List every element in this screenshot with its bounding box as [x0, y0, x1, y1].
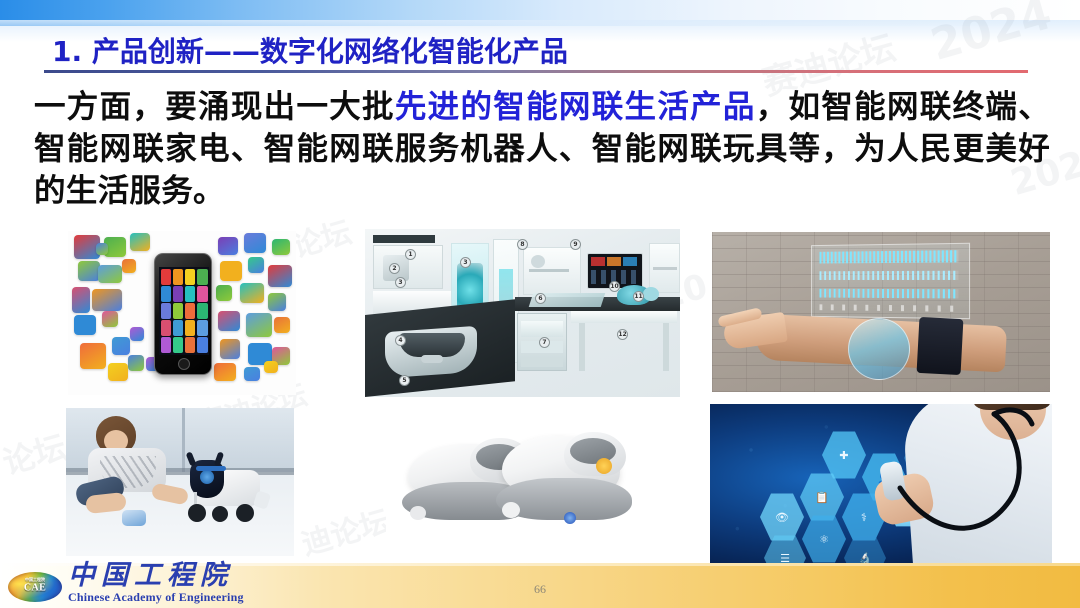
floating-app-icon — [244, 367, 260, 381]
smartphone-device — [154, 253, 212, 375]
floating-app-icon — [272, 239, 290, 255]
phone-app-icon — [173, 320, 184, 336]
floating-app-icon — [128, 355, 144, 371]
phone-app-icon — [173, 337, 184, 353]
phone-app-icon — [197, 269, 208, 285]
floating-app-icon — [74, 315, 96, 335]
floating-app-icon — [248, 257, 264, 273]
holographic-lens — [848, 318, 910, 380]
floating-app-icon — [218, 311, 240, 331]
shoe-indicator-amber — [596, 458, 612, 474]
phone-app-icon — [197, 303, 208, 319]
robot-dog-wheel-1 — [188, 504, 206, 522]
phone-app-icon — [161, 286, 172, 302]
floating-app-icon — [130, 327, 144, 341]
floating-app-icon — [80, 343, 106, 369]
floating-app-icon — [92, 289, 122, 311]
floating-app-icon — [78, 261, 100, 281]
watermark-5: 论坛 — [0, 422, 71, 484]
phone-app-icon — [185, 320, 196, 336]
image-wearable-hologram — [712, 232, 1050, 392]
body-highlight: 先进的智能网联生活产品 — [395, 89, 756, 125]
phone-app-icon — [161, 320, 172, 336]
image-child-robot-dog — [66, 408, 294, 556]
body-paragraph: 一方面，要涌现出一大批先进的智能网联生活产品，如智能网联终端、智能网联家电、智能… — [34, 86, 1050, 212]
page-title: 1. 产品创新——数字化网络化智能化产品 — [52, 30, 568, 70]
phone-app-icon — [161, 303, 172, 319]
shoe-indicator-blue — [564, 512, 576, 524]
phone-app-icon — [173, 286, 184, 302]
robot-dog-wheel-3 — [236, 504, 254, 522]
phone-home-button — [178, 358, 190, 370]
floating-app-icon — [220, 261, 242, 281]
floating-app-icon — [244, 233, 266, 253]
floating-app-icon — [220, 339, 240, 359]
body-part1: 一方面，要涌现出一大批 — [34, 89, 395, 125]
shoe-front-sensor — [502, 502, 520, 518]
page-number: 66 — [0, 582, 1080, 597]
phone-app-icon — [173, 269, 184, 285]
shoe-back-sensor — [410, 506, 426, 520]
image-smart-shoes — [386, 420, 686, 560]
floating-app-icon — [108, 363, 128, 381]
floating-app-icon — [264, 361, 278, 373]
floating-app-icon — [98, 265, 122, 283]
robot-dog-eye — [200, 470, 214, 484]
phone-screen — [159, 267, 209, 355]
phone-app-icon — [161, 269, 172, 285]
floating-app-icon — [72, 287, 90, 313]
floating-app-icon — [274, 317, 290, 333]
phone-app-icon — [173, 303, 184, 319]
floating-app-icon — [218, 237, 238, 255]
phone-app-icon — [185, 337, 196, 353]
floating-app-icon — [112, 337, 130, 355]
stethoscope-tubing — [860, 404, 1052, 568]
floating-app-icon — [102, 311, 118, 327]
phone-app-icon — [197, 286, 208, 302]
slide-root: 202420242024 赛迪论坛赛迪论坛20论坛迪论坛迪论坛2024 赛迪论坛… — [0, 0, 1080, 608]
small-blue-toy — [122, 510, 146, 526]
floating-app-icon — [122, 259, 136, 273]
floating-app-icon — [130, 233, 150, 251]
floating-app-icon — [216, 285, 232, 301]
phone-app-icon — [185, 286, 196, 302]
phone-app-icon — [161, 337, 172, 353]
floating-app-icon — [214, 363, 236, 381]
hologram-panel — [811, 243, 970, 319]
image-smart-healthcare: ✚ 👤 🧰 📋 ⚕ 🩹 👁 ⚛ ☰ 🔬 — [710, 404, 1052, 568]
image-smart-kitchen: 1 2 3 3 4 5 6 7 8 9 10 11 12 — [365, 229, 680, 397]
robot-dog-collar — [196, 466, 226, 471]
watermark-6: 迪论坛 — [296, 496, 395, 563]
image-smartphone-apps — [68, 231, 296, 395]
floating-app-icon — [268, 265, 292, 287]
phone-app-icon — [185, 269, 196, 285]
phone-app-icon — [197, 337, 208, 353]
floating-app-icon — [268, 293, 286, 311]
floating-app-icon — [96, 243, 108, 255]
title-divider-rule — [44, 70, 1028, 73]
floating-app-icon — [240, 283, 264, 303]
floating-app-icon — [246, 313, 272, 337]
phone-app-icon — [197, 320, 208, 336]
wearable-wristband — [917, 317, 964, 375]
phone-app-icon — [185, 303, 196, 319]
robot-dog-wheel-2 — [212, 506, 228, 522]
